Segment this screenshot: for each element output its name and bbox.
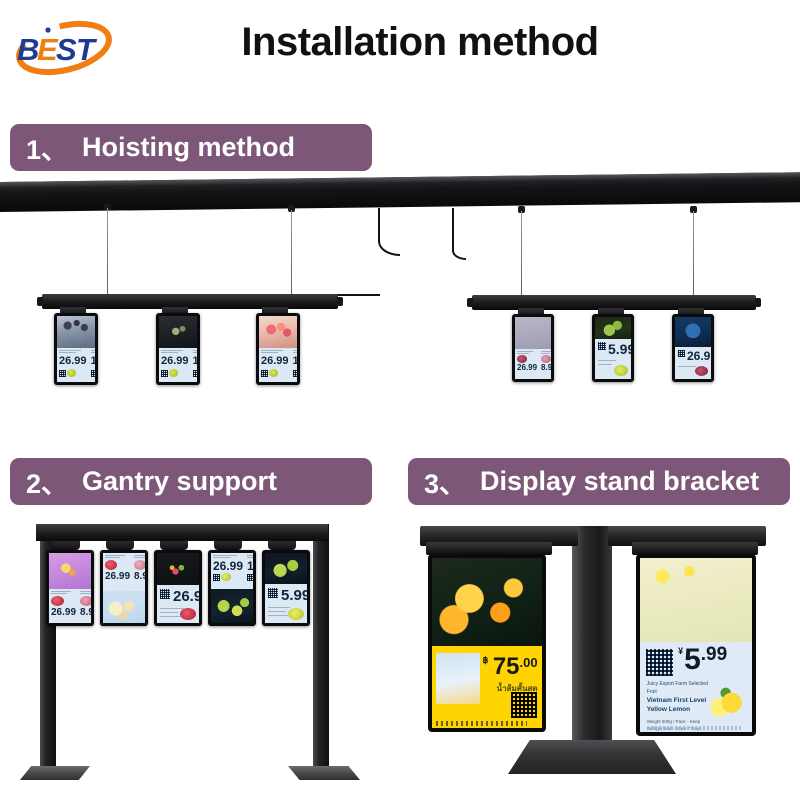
price-area: 26.99 8.99 [49,589,91,623]
section-number-1: 1、 [26,128,68,167]
display-panel[interactable]: 26.99 [672,314,714,382]
display-panel[interactable]: 26.99 [154,550,202,626]
creative-image [675,317,711,347]
hanging-rail-left [42,294,338,309]
price-area-juice: ฿ 75.00 น้ำส้มคั้นสด [432,646,542,728]
fruit-thumb [80,596,91,606]
price-cell: 26.99 [49,589,78,623]
price-value: 8.99 [134,572,145,582]
qr-code-icon [511,692,537,718]
price-area: 26.99 [675,347,711,379]
section-banner-gantry: 2、 Gantry support [10,458,372,505]
display-panel[interactable]: 26.99 18.99 [256,313,300,385]
price-cell: 18.99 [245,553,253,589]
display-panel[interactable]: 26.99 18.99 [208,550,256,626]
price-value: 8.99 [541,364,551,372]
qr-code-icon [646,649,673,676]
fruit-thumb [288,608,304,620]
price-cell: 26.99 [259,348,291,382]
price-value: 5.99 [608,342,631,356]
gantry-hook [106,541,134,550]
creative-image-lemon [640,558,752,642]
section-label-2: Gantry support [82,466,277,497]
price-area: 26.99 18.99 [211,553,253,623]
price-value: 26.99 [105,572,130,582]
fruit-thumb [269,369,278,377]
qr-code-icon [293,370,297,377]
display-panel[interactable]: 26.99 18.99 [156,313,200,385]
creative-image [49,553,91,589]
creative-image [595,317,631,339]
display-panel[interactable]: 26.99 8.99 [46,550,94,626]
suspension-cable [693,211,694,296]
fruit-thumb [134,560,145,570]
barcode-strip [647,726,743,730]
price-value: 18.99 [247,560,253,572]
price-cell: 26.99 [211,553,245,589]
creative-image [265,553,307,584]
gantry-hook [268,541,296,550]
price-value: 18.99 [193,356,197,367]
poster-page: B E S T Installation method 1、 Hoisting … [0,0,800,800]
price-area: 5.99 [595,339,631,379]
price-area: 26.99 [157,585,199,623]
price-area: 26.99 18.99 [159,348,197,382]
fruit-thumb [614,365,628,376]
creative-image [515,317,551,349]
qr-code-icon [193,370,197,377]
price-decimal: .99 [701,645,727,664]
display-panel[interactable]: 26.99 18.99 [54,313,98,385]
price-value: 8.99 [80,608,91,618]
price-area: 26.99 8.99 [103,553,145,623]
price-block: ฿ 75.00 น้ำส้มคั้นสด [483,655,538,695]
gantry-beam [36,524,328,541]
fruit-thumb [180,608,196,620]
barcode-strip [436,721,526,726]
display-panel[interactable]: 5.99 [592,314,634,382]
display-stand-bracket-illustration: ฿ 75.00 น้ำส้มคั้นสด ¥ 5. [404,508,800,800]
price-value: 26.99 [261,356,289,367]
fruit-thumb [695,366,708,376]
currency-symbol: ฿ [483,655,489,665]
section-banner-hoisting: 1、 Hoisting method [10,124,372,171]
display-panel-juice[interactable]: ฿ 75.00 น้ำส้มคั้นสด [428,554,546,732]
display-panel[interactable]: 5.99 [262,550,310,626]
gantry-hook [214,541,242,550]
gantry-hook [52,541,80,550]
display-panel-lemon[interactable]: ¥ 5.99 Juicy Export Farm Selected Fruit … [636,554,756,736]
creative-image [259,316,297,348]
price-block: ¥ 5.99 [678,645,727,675]
price-area: 5.99 [265,584,307,623]
creative-image [157,553,199,585]
gantry-hook [160,541,188,550]
price-area: 26.99 8.99 [515,349,551,379]
price-integer: 5 [684,645,701,675]
price-decimal: .00 [520,655,538,670]
price-cell: 26.99 [515,349,539,379]
price-value: 18.99 [293,356,297,367]
product-photo [436,653,480,704]
price-area: 26.99 18.99 [57,348,95,382]
qr-code-icon [678,350,685,357]
fruit-thumb [169,369,178,377]
qr-code-icon [161,370,168,377]
price-cell: 26.99 [159,348,191,382]
fruit-thumb [221,573,231,581]
desc-line-1: Juicy Export Farm Selected Fruit [647,681,712,696]
price-area-lemon: ¥ 5.99 Juicy Export Farm Selected Fruit … [640,642,752,732]
price-cell: 18.99 [291,348,297,382]
display-panel[interactable]: 26.99 8.99 [512,314,554,382]
section-banner-display-stand: 3、 Display stand bracket [408,458,790,505]
creative-image [103,591,145,623]
suspension-cable [107,208,108,296]
power-cord [378,208,400,256]
gantry-illustration: 26.99 8.99 [0,508,400,800]
fruit-thumb [517,355,527,363]
price-integer: 75 [493,653,520,680]
hoisting-illustration: 26.99 18.99 [0,176,800,446]
price-value: 26.99 [59,356,87,367]
fruit-thumb [705,683,748,721]
gantry-foot-left [20,766,90,780]
price-value: 26.99 [51,608,76,618]
price-area: 26.99 18.99 [259,348,297,382]
qr-code-icon [598,342,606,350]
page-title: Installation method [0,18,800,66]
price-cell: 18.99 [191,348,197,382]
qr-code-icon [160,589,170,599]
price-cell: 26.99 [57,348,89,382]
currency-symbol: ¥ [678,647,683,656]
qr-code-icon [247,574,253,581]
product-description: Juicy Export Farm Selected Fruit Vietnam… [647,681,712,732]
qr-code-icon [268,588,278,598]
section-number-3: 3、 [424,462,466,501]
ceiling-track [0,172,800,212]
price-value: 18.99 [91,356,95,367]
qr-code-icon [59,370,66,377]
suspension-cable [521,211,522,296]
fruit-thumb [51,596,64,606]
fruit-thumb [67,369,76,377]
gantry-post-right [313,524,329,770]
suspension-cable [291,210,292,296]
price-value: 5.99 [281,588,307,603]
section-label-3: Display stand bracket [480,466,759,497]
price-cell: 8.99 [132,553,145,591]
price-value: 26.99 [687,350,711,362]
creative-image [159,316,197,348]
desc-line-2: Vietnam First Level Yellow Lemon [647,696,712,714]
section-number-2: 2、 [26,462,68,501]
gantry-foot-right [288,766,360,780]
creative-image [57,316,95,348]
stand-base [508,740,676,774]
price-cell: 8.99 [539,349,551,379]
display-panel[interactable]: 26.99 8.99 [100,550,148,626]
price-value: 26.99 [517,364,537,372]
creative-image [211,589,253,623]
qr-code-icon [261,370,268,377]
power-cord [452,208,466,260]
section-label-1: Hoisting method [82,132,295,163]
stand-column [572,526,612,754]
price-cell: 18.99 [89,348,95,382]
price-value: 26.99 [173,589,199,604]
qr-code-icon [91,370,95,377]
price-value: 26.99 [213,560,243,572]
price-cell: 8.99 [78,589,91,623]
price-cell: 26.99 [103,553,132,591]
qr-code-icon [213,574,220,581]
fruit-thumb [541,355,551,363]
fruit-thumb [105,560,117,570]
creative-image-juice [432,558,542,646]
price-value: 26.99 [161,356,189,367]
